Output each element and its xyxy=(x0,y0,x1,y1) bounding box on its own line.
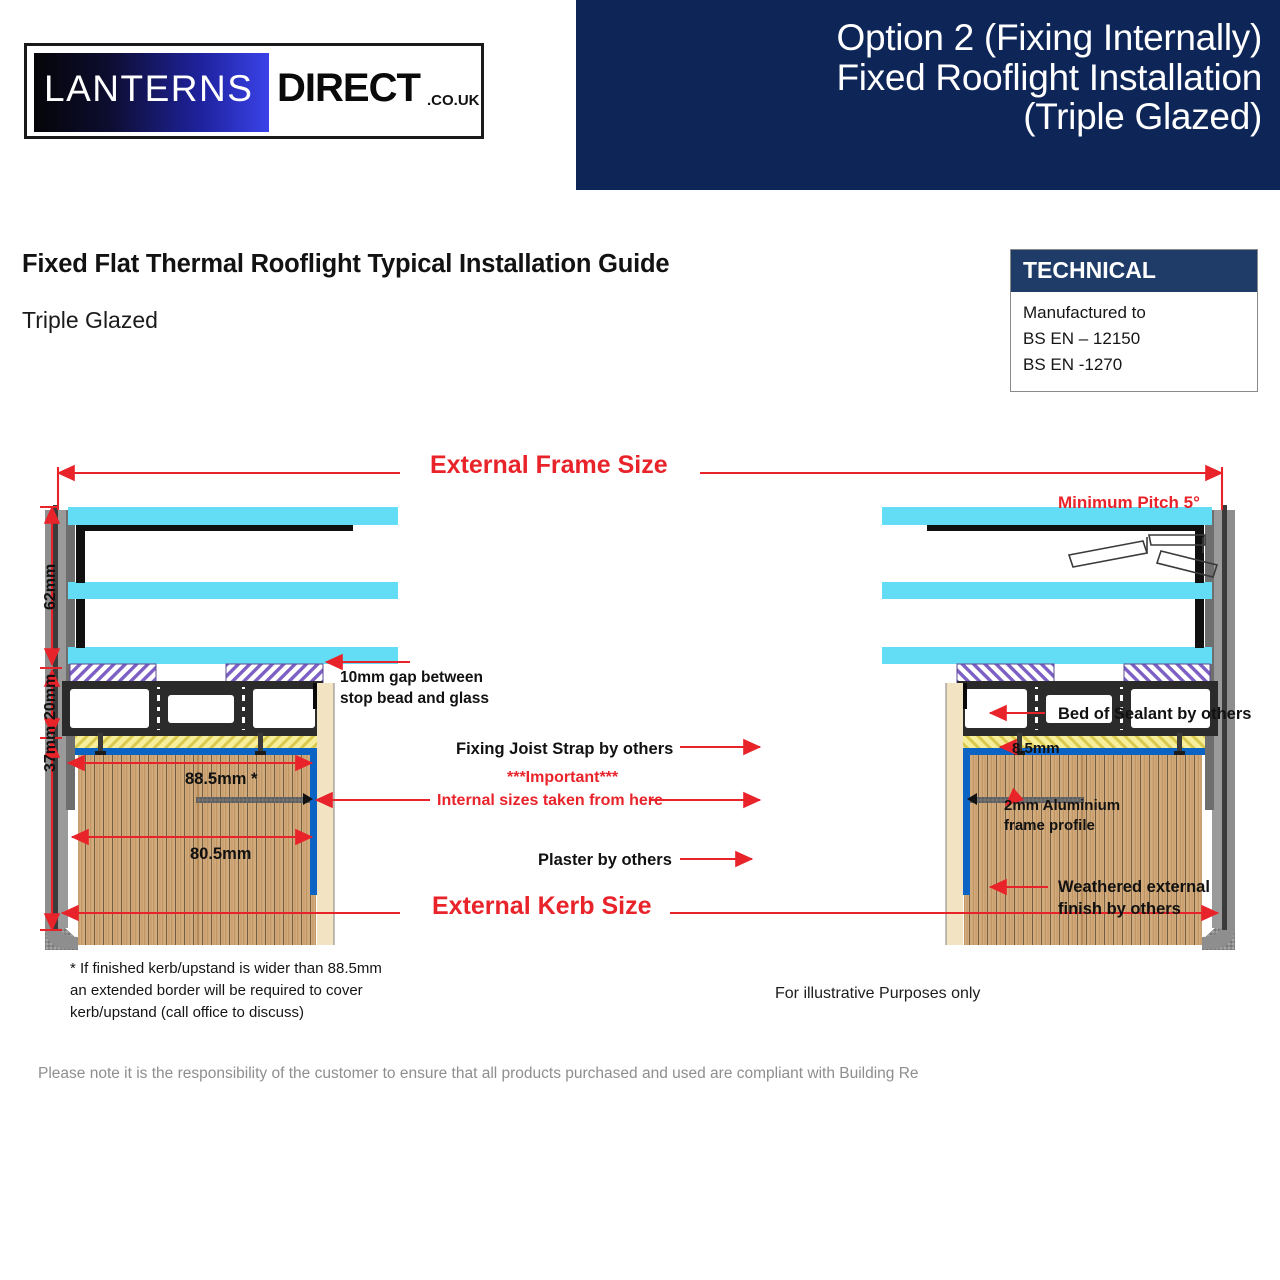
installation-diagram: External Frame Size External Kerb Size M… xyxy=(0,425,1280,985)
sealant-band-right xyxy=(226,664,323,683)
callout-bed-of-sealant: Bed of Sealant by others xyxy=(1058,703,1251,725)
vertical-dimension-20mm: 20mm xyxy=(42,674,60,720)
technical-line: BS EN – 12150 xyxy=(1023,326,1257,352)
callout-plaster-by-others: Plaster by others xyxy=(538,849,672,871)
glass-spacer-upper xyxy=(76,525,85,583)
horizontal-dimension-80-5mm: 80.5mm xyxy=(190,845,251,864)
sealant-band-left xyxy=(70,664,156,683)
glass-spacer-lower xyxy=(76,599,85,648)
technical-box-body: Manufactured to BS EN – 12150 BS EN -127… xyxy=(1011,292,1257,377)
horizontal-dimension-88-5mm: 88.5mm * xyxy=(185,770,257,789)
minimum-pitch-label: Minimum Pitch 5° xyxy=(1058,493,1200,513)
callout-2mm-aluminium-frame: 2mm Aluminium frame profile xyxy=(1004,796,1120,836)
page-title: Fixed Flat Thermal Rooflight Typical Ins… xyxy=(22,250,669,279)
external-kerb-size-label: External Kerb Size xyxy=(432,892,652,921)
technical-line: BS EN -1270 xyxy=(1023,352,1257,378)
left-section-assembly xyxy=(45,505,398,950)
logo-domain-suffix: .CO.UK xyxy=(427,92,480,109)
technical-box: TECHNICAL Manufactured to BS EN – 12150 … xyxy=(1010,249,1258,392)
logo-word-direct: DIRECT xyxy=(277,66,420,111)
callout-weathered-external-finish: Weathered external finish by others xyxy=(1058,876,1210,920)
brand-logo: LANTERNS DIRECT .CO.UK xyxy=(24,43,484,139)
vertical-dimension-37mm: 37mm xyxy=(42,726,60,772)
plaster-layer-left xyxy=(317,683,334,945)
minimum-pitch-icon xyxy=(1069,535,1217,577)
page-subtitle: Triple Glazed xyxy=(22,307,158,334)
callout-stop-bead-gap: 10mm gap between stop bead and glass xyxy=(340,668,489,710)
glass-pane-middle xyxy=(68,582,398,599)
technical-line: Manufactured to xyxy=(1023,300,1257,326)
callout-fixing-joist-strap: Fixing Joist Strap by others xyxy=(456,738,673,760)
plaster-edge-left xyxy=(310,755,317,895)
membrane-line-left xyxy=(75,748,323,755)
asterisk-footnote: * If finished kerb/upstand is wider than… xyxy=(70,958,470,1023)
callout-internal-sizes: Internal sizes taken from here xyxy=(437,792,663,810)
external-frame-size-label: External Frame Size xyxy=(430,451,668,480)
sealant-bed-left xyxy=(75,736,323,748)
illustrative-note: For illustrative Purposes only xyxy=(775,985,980,1003)
callout-important: ***Important*** xyxy=(507,769,618,787)
disclaimer-text: Please note it is the responsibility of … xyxy=(38,1065,1138,1083)
vertical-dimension-62mm: 62mm xyxy=(42,564,60,610)
callout-8-5mm: 8.5mm xyxy=(1012,739,1060,759)
logo-word-lanterns: LANTERNS xyxy=(44,68,253,110)
technical-box-heading: TECHNICAL xyxy=(1011,250,1257,292)
aluminium-frame-profile-left xyxy=(62,681,323,736)
glass-pane-outer xyxy=(68,507,398,525)
header-title: Option 2 (Fixing Internally) Fixed Roofl… xyxy=(602,18,1262,137)
